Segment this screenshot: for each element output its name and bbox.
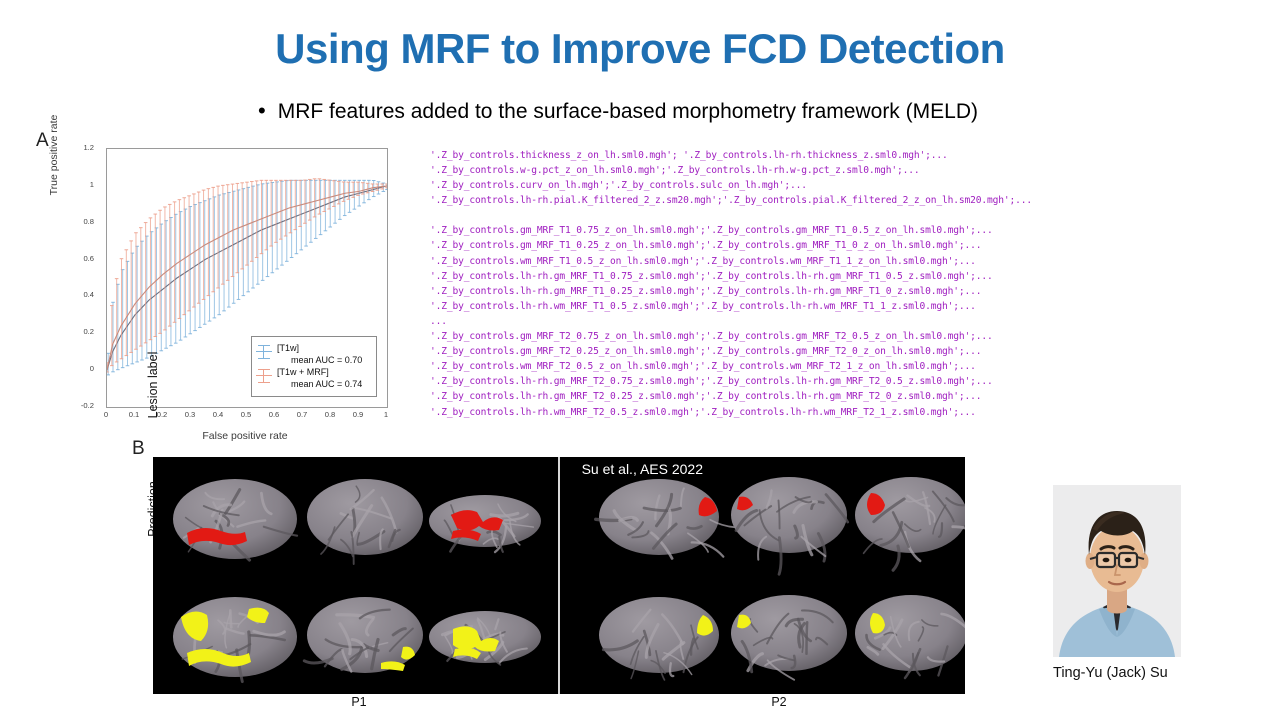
legend-label: [T1w]mean AUC = 0.70 [277,343,362,366]
gyrus-stroke [779,538,781,575]
brain-surface [307,479,423,564]
panel-b-brain-figure: B Lesion label Prediction Su et al., AES… [132,437,982,715]
roc-chart-area: True positive rate False positive rate -… [62,138,422,450]
x-axis-tick-label: 0.9 [346,410,370,419]
code-line: '.Z_by_controls.lh-rh.wm_MRF_T1_0.5_z.sm… [430,299,1276,314]
code-line: '.Z_by_controls.w-g.pct_z_on_lh.sml0.mgh… [430,163,1276,178]
legend-series-name: [T1w] [277,343,299,353]
x-axis-tick-label: 0 [94,410,118,419]
feature-list-code-block: '.Z_by_controls.thickness_z_on_lh.sml0.m… [430,148,1276,420]
cortex-body [855,595,965,671]
legend-series-name: [T1w + MRF] [277,367,329,377]
x-axis-tick-label: 0.6 [262,410,286,419]
gyrus-stroke [807,622,808,654]
bullet-list-item: • MRF features added to the surface-base… [258,98,1188,125]
code-line: '.Z_by_controls.lh-rh.gm_MRF_T2_0.25_z.s… [430,389,1276,404]
slide-canvas: Using MRF to Improve FCD Detection • MRF… [0,0,1280,720]
x-axis-tick-label: 0.1 [122,410,146,419]
panel-b-label: B [132,438,145,460]
code-line: ... [430,314,1276,329]
code-line: '.Z_by_controls.gm_MRF_T2_0.75_z_on_lh.s… [430,329,1276,344]
code-block-separator [430,208,1276,223]
code-line: '.Z_by_controls.lh-rh.gm_MRF_T1_0.75_z.s… [430,269,1276,284]
code-line: '.Z_by_controls.gm_MRF_T1_0.25_z_on_lh.s… [430,238,1276,253]
panel-a-label: A [36,130,49,152]
brain-surface [304,597,423,673]
code-line: '.Z_by_controls.curv_on_lh.mgh';'.Z_by_c… [430,178,1276,193]
errorbar-legend-icon [256,368,272,384]
code-line: '.Z_by_controls.wm_MRF_T1_0.5_z_on_lh.sm… [430,254,1276,269]
panel-a-roc-chart: A True positive rate False positive rate… [36,130,426,450]
gyrus-stroke [230,611,231,628]
y-axis-tick-label: 1.2 [54,143,94,152]
y-axis-tick-label: 0.4 [54,290,94,299]
row-label-lesion: Lesion label [146,325,160,445]
code-line: '.Z_by_controls.lh-rh.gm_MRF_T2_0.75_z.s… [430,374,1276,389]
patient-divider [558,457,560,694]
brain-surface [855,595,965,678]
brain-surface [429,611,541,665]
x-axis-tick-label: 0.8 [318,410,342,419]
avatar [1053,485,1181,657]
brain-surface [429,495,541,552]
y-axis-title: True positive rate [48,80,60,230]
column-label-p2: P2 [739,695,819,709]
y-axis-tick-label: 0.8 [54,217,94,226]
x-axis-tick-label: 0.4 [206,410,230,419]
gyrus-stroke [779,500,780,528]
x-axis-tick-label: 0.7 [290,410,314,419]
legend-auc-value: mean AUC = 0.70 [277,355,362,367]
bullet-text: MRF features added to the surface-based … [278,98,978,125]
roc-legend: [T1w]mean AUC = 0.70[T1w + MRF]mean AUC … [251,336,377,397]
y-axis-tick-label: 1 [54,180,94,189]
code-line: '.Z_by_controls.thickness_z_on_lh.sml0.m… [430,148,1276,163]
legend-label: [T1w + MRF]mean AUC = 0.74 [277,367,362,390]
column-label-p1: P1 [319,695,399,709]
brain-surface [731,595,847,680]
x-axis-tick-label: 0.3 [178,410,202,419]
code-line: '.Z_by_controls.wm_MRF_T2_0.5_z_on_lh.sm… [430,359,1276,374]
bullet-marker-icon: • [258,98,266,124]
brain-surface [855,477,965,570]
brain-surface [731,477,848,574]
legend-item: [T1w + MRF]mean AUC = 0.74 [256,367,371,390]
code-line: '.Z_by_controls.lh-rh.gm_MRF_T1_0.25_z.s… [430,284,1276,299]
brain-surface [596,479,736,558]
x-axis-tick-label: 1 [374,410,398,419]
y-axis-tick-label: 0 [54,364,94,373]
y-axis-tick-label: 0.6 [54,254,94,263]
portrait-name: Ting-Yu (Jack) Su [1053,665,1233,681]
page-title: Using MRF to Improve FCD Detection [0,26,1280,72]
y-axis-tick-label: 0.2 [54,327,94,336]
legend-auc-value: mean AUC = 0.74 [277,379,362,391]
y-axis-tick-label: -0.2 [54,401,94,410]
cortex-body [855,477,965,553]
code-line: '.Z_by_controls.lh-rh.wm_MRF_T2_0.5_z.sm… [430,405,1276,420]
errorbar-legend-icon [256,344,272,360]
legend-item: [T1w]mean AUC = 0.70 [256,343,371,366]
x-axis-tick-label: 0.5 [234,410,258,419]
figure-credit: Su et al., AES 2022 [582,461,703,477]
brain-surface [173,479,297,560]
code-line: '.Z_by_controls.lh-rh.pial.K_filtered_2_… [430,193,1276,208]
portrait-photo-svg [1053,485,1181,657]
brain-surface [173,597,297,682]
code-line: '.Z_by_controls.gm_MRF_T2_0.25_z_on_lh.s… [430,344,1276,359]
brain-surface-render-grid: Su et al., AES 2022 [153,457,965,694]
brain-surface [599,597,719,680]
portrait-block: Ting-Yu (Jack) Su [1053,485,1233,681]
code-line: '.Z_by_controls.gm_MRF_T1_0.75_z_on_lh.s… [430,223,1276,238]
